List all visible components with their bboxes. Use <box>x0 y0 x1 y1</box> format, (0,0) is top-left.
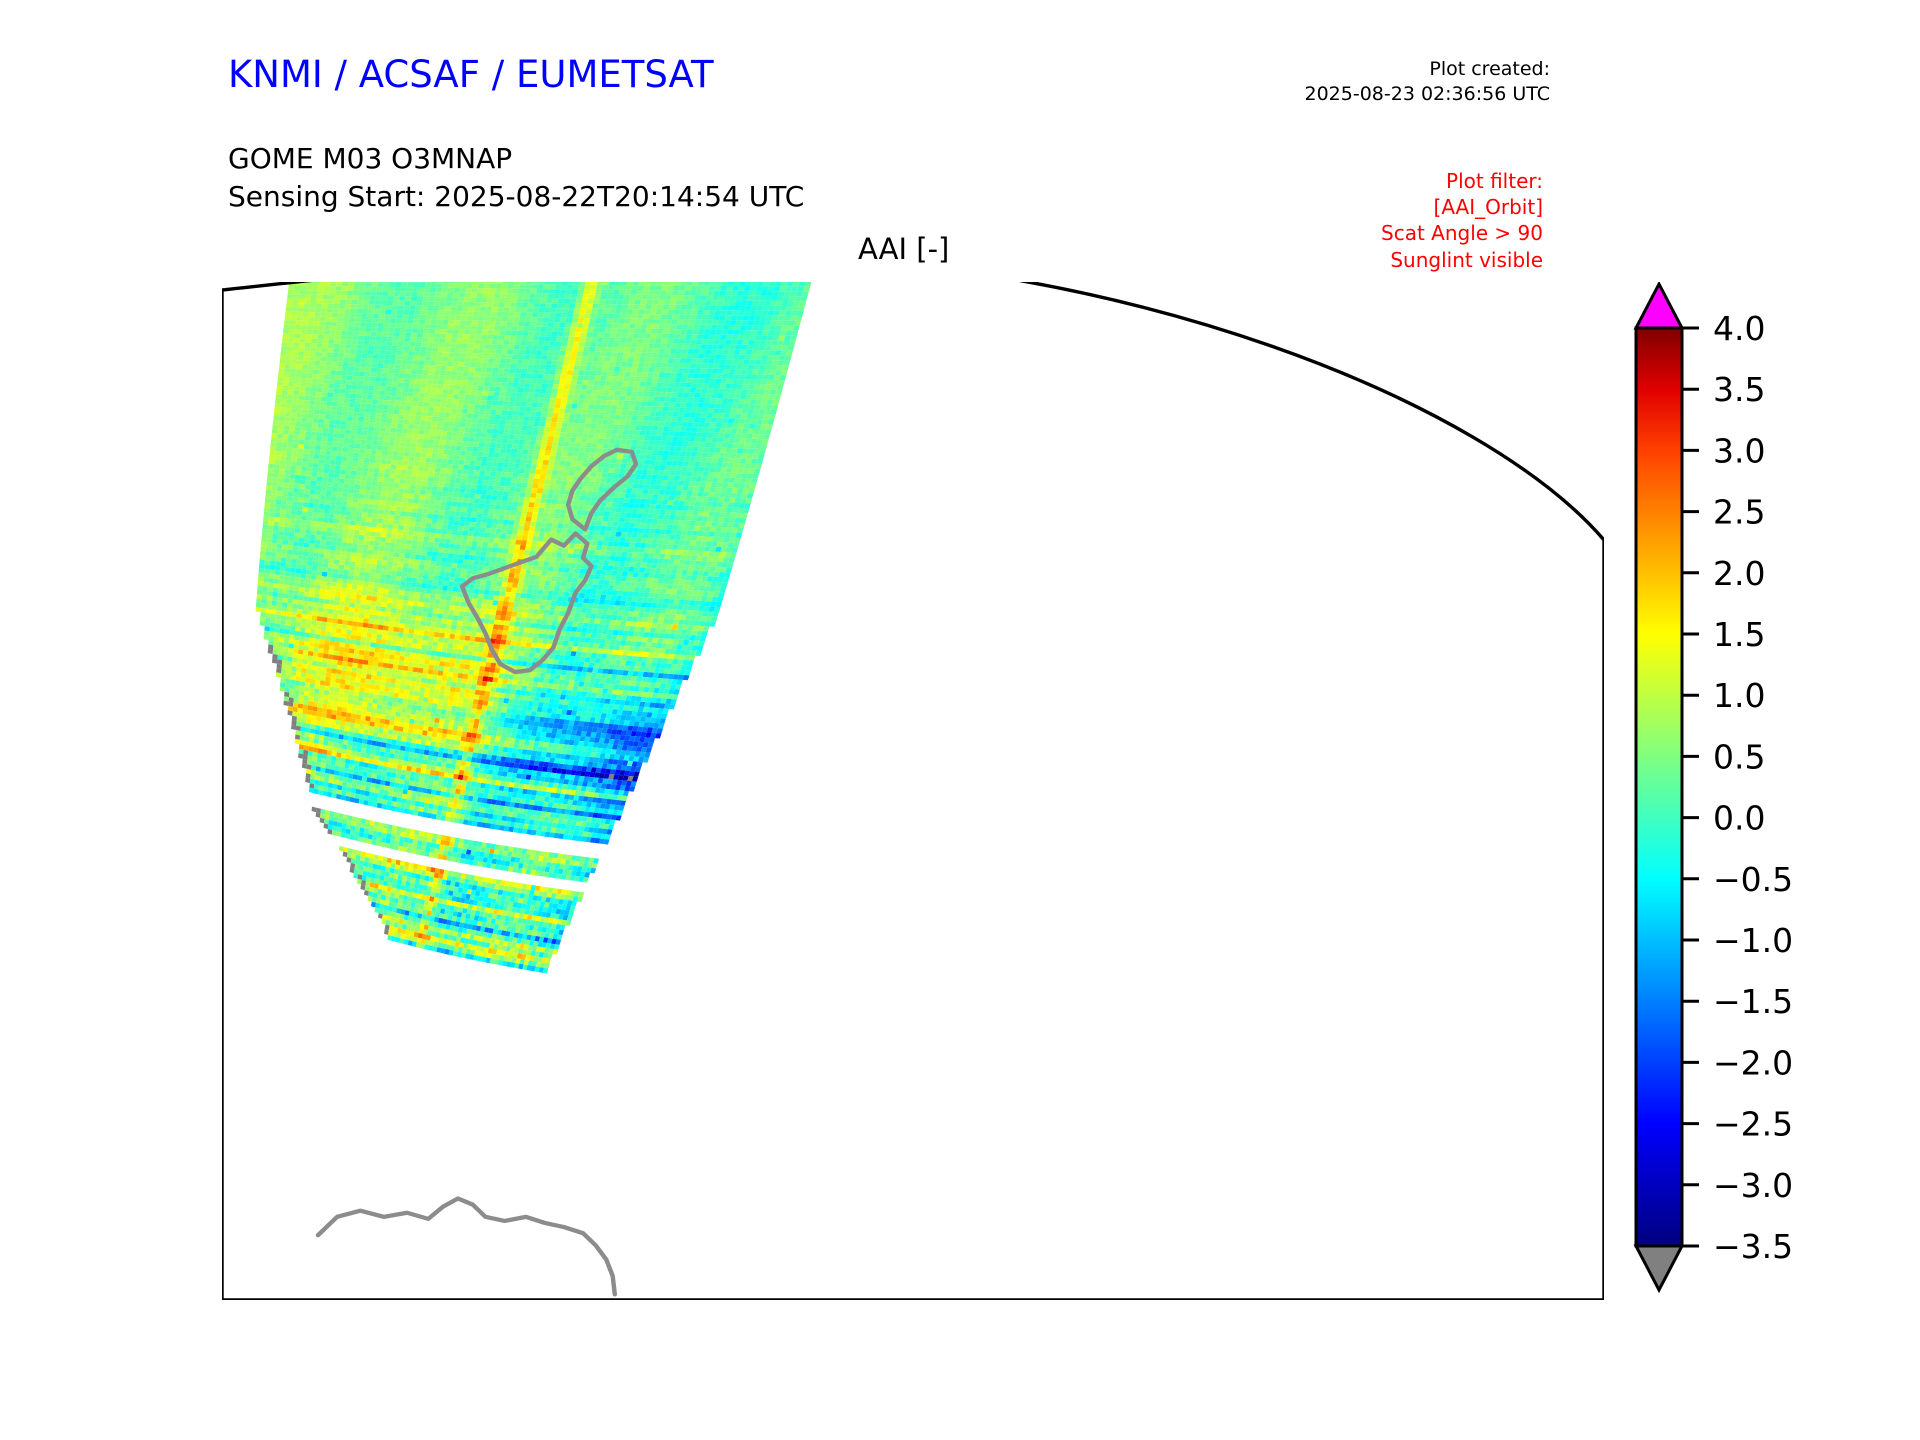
brand-title: KNMI / ACSAF / EUMETSAT <box>228 53 714 96</box>
dataset-block: GOME M03 O3MNAP Sensing Start: 2025-08-2… <box>228 140 804 217</box>
plot-page: KNMI / ACSAF / EUMETSAT Plot created: 20… <box>0 0 1920 1440</box>
dataset-name: GOME M03 O3MNAP <box>228 140 804 178</box>
colorbar-tick-label: 1.0 <box>1713 676 1765 715</box>
colorbar-tick-label: −3.0 <box>1713 1166 1793 1205</box>
colorbar-tick-label: 1.5 <box>1713 615 1765 654</box>
colorbar-tick-label: 2.5 <box>1713 493 1765 532</box>
colorbar-ticks: 4.03.53.02.52.01.51.00.50.0−0.5−1.0−1.5−… <box>1682 309 1793 1266</box>
plot-filter-line-0: Plot filter: <box>1381 168 1543 194</box>
colorbar-tick-label: −1.0 <box>1713 921 1793 960</box>
colorbar-tick-label: 0.5 <box>1713 737 1765 776</box>
colorbar-tick-label: −3.5 <box>1713 1227 1793 1266</box>
colorbar-tick-label: −1.5 <box>1713 982 1793 1021</box>
sensing-start: Sensing Start: 2025-08-22T20:14:54 UTC <box>228 178 804 216</box>
coastline-path <box>318 1198 615 1294</box>
colorbar-over-arrow <box>1636 284 1682 328</box>
colorbar-tick-label: −2.5 <box>1713 1105 1793 1144</box>
colorbar[interactable]: 4.03.53.02.52.01.51.00.50.0−0.5−1.0−1.5−… <box>1630 282 1880 1300</box>
colorbar-tick-label: 2.0 <box>1713 554 1765 593</box>
plot-created-label: Plot created: <box>1305 57 1551 82</box>
plot-filter-line-3: Sunglint visible <box>1381 247 1543 273</box>
map-canvas <box>222 282 1604 1300</box>
colorbar-tick-label: 3.0 <box>1713 431 1765 470</box>
plot-filter-line-1: [AAI_Orbit] <box>1381 194 1543 220</box>
colorbar-tick-label: 3.5 <box>1713 370 1765 409</box>
colorbar-tick-label: −2.0 <box>1713 1043 1793 1082</box>
plot-filter-line-2: Scat Angle > 90 <box>1381 220 1543 246</box>
plot-created-block: Plot created: 2025-08-23 02:36:56 UTC <box>1305 57 1551 107</box>
colorbar-tick-label: 0.0 <box>1713 799 1765 838</box>
plot-axis-title: AAI [-] <box>858 232 949 266</box>
plot-filter-block: Plot filter: [AAI_Orbit] Scat Angle > 90… <box>1381 168 1543 273</box>
colorbar-tick-label: 4.0 <box>1713 309 1765 348</box>
colorbar-under-arrow <box>1636 1246 1682 1290</box>
map-panel <box>222 282 1604 1300</box>
colorbar-gradient-bar <box>1636 328 1682 1246</box>
swath-data-layer <box>256 282 822 974</box>
colorbar-tick-label: −0.5 <box>1713 860 1793 899</box>
plot-created-value: 2025-08-23 02:36:56 UTC <box>1305 82 1551 107</box>
colorbar-canvas[interactable]: 4.03.53.02.52.01.51.00.50.0−0.5−1.0−1.5−… <box>1630 282 1880 1300</box>
